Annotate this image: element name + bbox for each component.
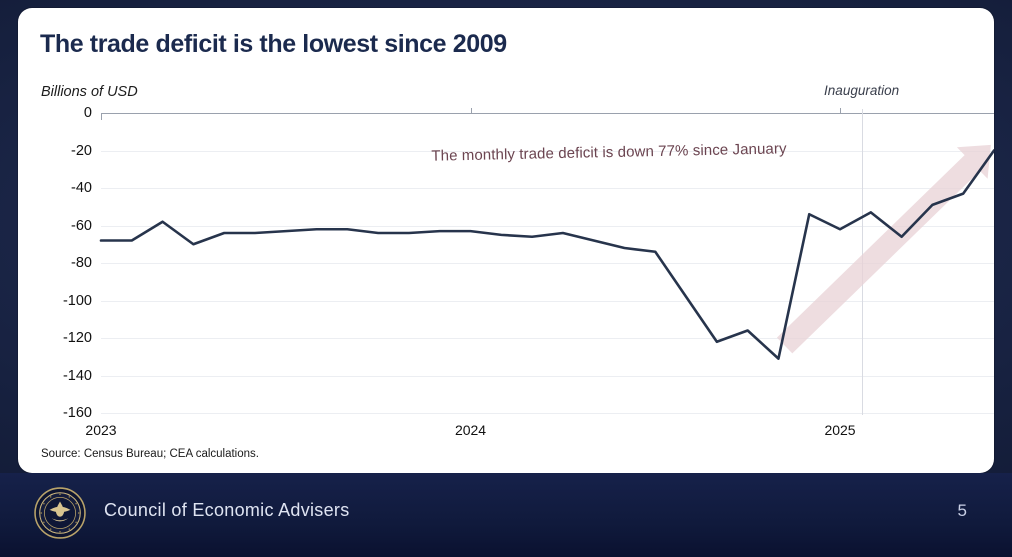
y-axis-tick-label: 0	[84, 105, 92, 121]
chart-plot-area: 0-20-40-60-80-100-120-140-160 2023202420…	[101, 113, 994, 413]
series-line-path	[101, 151, 994, 359]
y-axis-tick-label: -120	[63, 330, 92, 346]
page-title: The trade deficit is the lowest since 20…	[40, 30, 507, 59]
slide-footer: Council of Economic Advisers 5	[0, 473, 1012, 557]
y-axis-tick-label: -60	[71, 218, 92, 234]
slide-content: The trade deficit is the lowest since 20…	[18, 8, 994, 473]
y-axis-tick-label: -80	[71, 255, 92, 271]
x-axis-tick-label: 2025	[824, 422, 855, 438]
x-axis-tick-label: 2024	[455, 422, 486, 438]
y-axis-tick-label: -160	[63, 405, 92, 421]
source-note: Source: Census Bureau; CEA calculations.	[41, 448, 259, 460]
slide-card: The trade deficit is the lowest since 20…	[18, 8, 994, 473]
presidential-seal-icon	[34, 487, 86, 539]
footer-organization-label: Council of Economic Advisers	[104, 500, 350, 521]
y-axis-tick-label: -100	[63, 293, 92, 309]
inauguration-label: Inauguration	[824, 83, 899, 98]
y-axis-tick-label: -140	[63, 368, 92, 384]
gridline	[101, 413, 994, 414]
page-number: 5	[958, 501, 967, 521]
x-axis-tick-label: 2023	[85, 422, 116, 438]
y-axis-unit-label: Billions of USD	[41, 84, 138, 100]
y-axis-tick-label: -20	[71, 143, 92, 159]
y-axis-tick-label: -40	[71, 180, 92, 196]
